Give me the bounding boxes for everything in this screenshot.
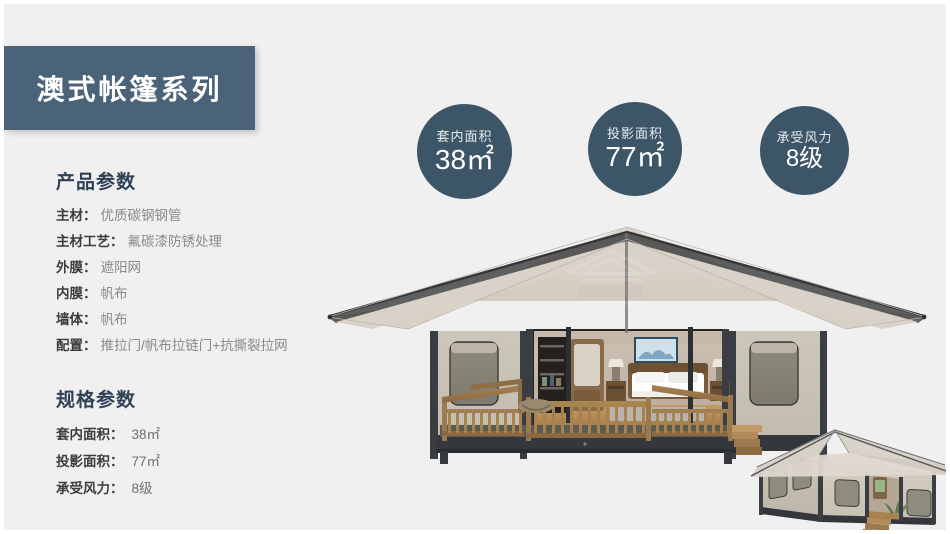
badge-interior-area: 套内面积 38㎡ — [417, 104, 512, 199]
param-label: 主材： — [56, 203, 97, 229]
badge-wind-resistance: 承受风力 8级 — [760, 106, 849, 195]
spec-label: 承受风力： — [56, 475, 124, 502]
slide-canvas: 澳式帐篷系列 产品参数 主材： 优质碳钢钢管 主材工艺： 氟碳漆防锈处理 外膜：… — [0, 0, 950, 534]
param-row: 主材： 优质碳钢钢管 — [56, 203, 356, 229]
badge-caption: 套内面积 — [436, 130, 492, 143]
spec-params-heading: 规格参数 — [56, 385, 356, 412]
param-row: 内膜： 帆布 — [56, 281, 356, 307]
title-banner: 澳式帐篷系列 — [4, 46, 255, 130]
parameters-panel: 产品参数 主材： 优质碳钢钢管 主材工艺： 氟碳漆防锈处理 外膜： 遮阳网 内膜… — [56, 167, 356, 502]
badge-caption: 承受风力 — [776, 131, 832, 144]
spec-value: 8级 — [132, 475, 153, 502]
param-label: 主材工艺： — [56, 229, 124, 255]
spec-params-list: 套内面积： 38㎡ 投影面积： 77㎡ 承受风力： 8级 — [56, 421, 356, 502]
param-row: 外膜： 遮阳网 — [56, 255, 356, 281]
param-value: 遮阳网 — [101, 255, 142, 281]
spec-row: 投影面积： 77㎡ — [56, 448, 356, 475]
product-params-list: 主材： 优质碳钢钢管 主材工艺： 氟碳漆防锈处理 外膜： 遮阳网 内膜： 帆布 … — [56, 203, 356, 359]
spec-row: 套内面积： 38㎡ — [56, 421, 356, 448]
spec-value: 38㎡ — [132, 421, 161, 448]
param-value: 推拉门/帆布拉链门+抗撕裂拉网 — [101, 333, 288, 359]
param-row: 主材工艺： 氟碳漆防锈处理 — [56, 229, 356, 255]
param-value: 帆布 — [101, 307, 128, 333]
param-row: 配置： 推拉门/帆布拉链门+抗撕裂拉网 — [56, 333, 356, 359]
badge-value: 77㎡ — [605, 143, 664, 171]
tent-perspective-view-image — [749, 419, 949, 534]
param-label: 墙体： — [56, 307, 97, 333]
param-row: 墙体： 帆布 — [56, 307, 356, 333]
badge-value: 38㎡ — [435, 146, 494, 174]
spec-value: 77㎡ — [132, 448, 161, 475]
param-label: 外膜： — [56, 255, 97, 281]
product-params-heading: 产品参数 — [56, 167, 356, 194]
page-title: 澳式帐篷系列 — [36, 68, 222, 108]
badge-caption: 投影面积 — [607, 127, 663, 140]
param-label: 配置： — [56, 333, 97, 359]
badge-projected-area: 投影面积 77㎡ — [588, 102, 682, 196]
param-value: 优质碳钢钢管 — [101, 203, 182, 229]
spec-label: 投影面积： — [56, 448, 124, 475]
spec-row: 承受风力： 8级 — [56, 475, 356, 502]
param-value: 帆布 — [101, 281, 128, 307]
param-value: 氟碳漆防锈处理 — [128, 229, 223, 255]
badge-value: 8级 — [786, 147, 823, 171]
spec-label: 套内面积： — [56, 421, 124, 448]
param-label: 内膜： — [56, 281, 97, 307]
